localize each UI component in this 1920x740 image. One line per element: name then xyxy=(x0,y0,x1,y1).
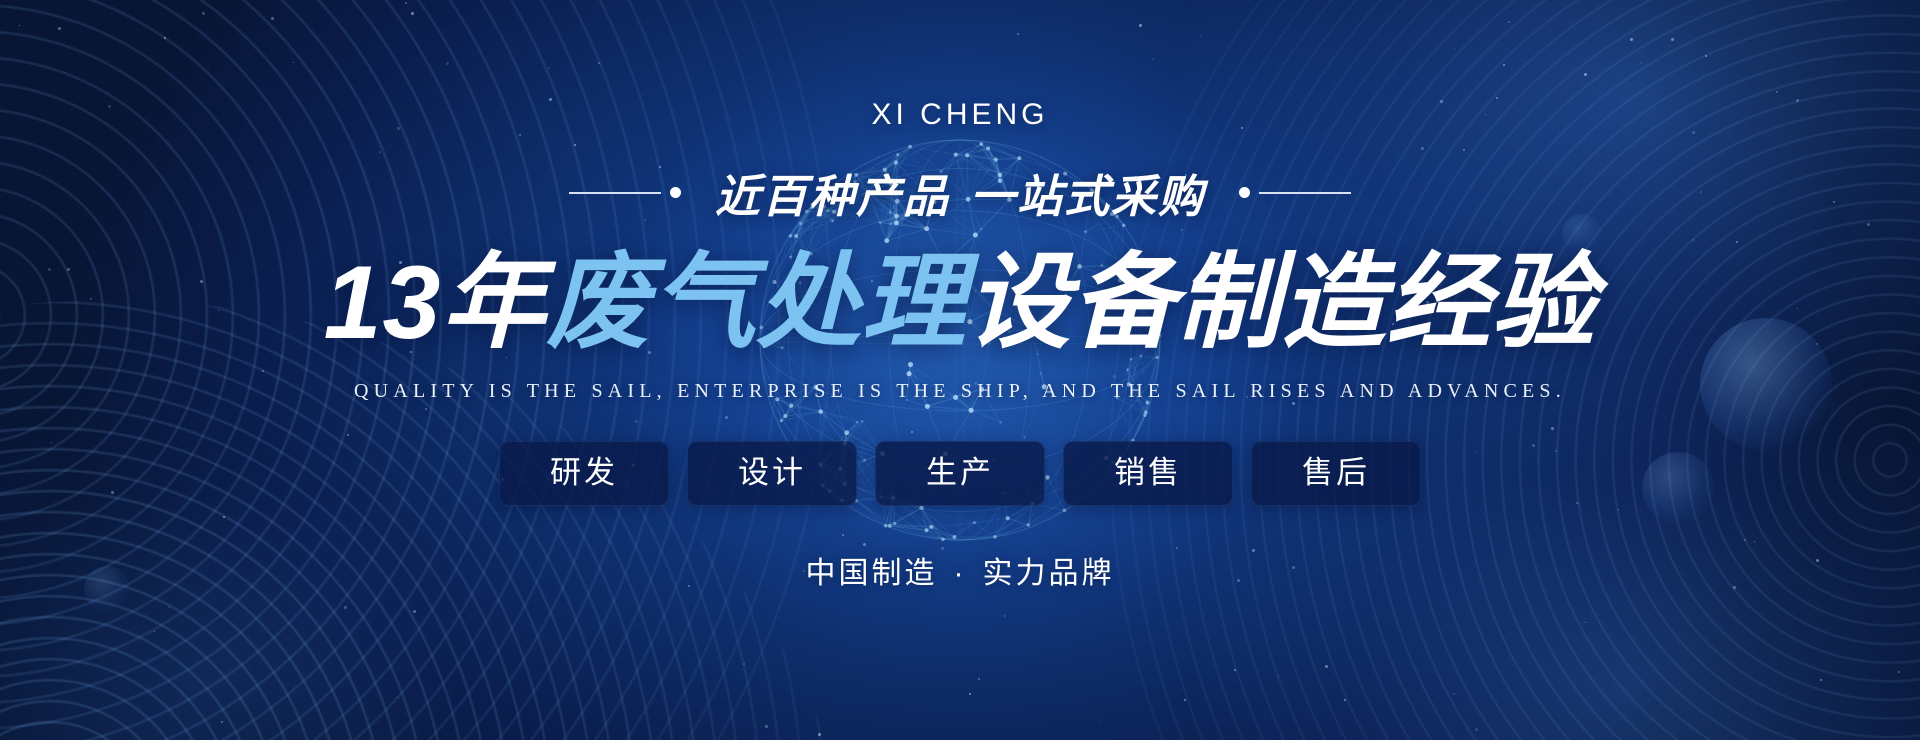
footnote-separator: · xyxy=(938,557,983,590)
service-stage-pill[interactable]: 设计 xyxy=(687,441,857,507)
service-stage-pill[interactable]: 研发 xyxy=(499,441,669,507)
subtitle-row: 近百种产品一站式采购 xyxy=(569,160,1351,225)
service-stage-pill[interactable]: 售后 xyxy=(1251,441,1421,507)
headline: 13年废气处理设备制造经验 xyxy=(324,243,1597,364)
decorative-rule-right-icon xyxy=(1239,187,1351,198)
subtitle-text: 近百种产品一站式采购 xyxy=(715,160,1205,225)
service-stage-list: 研发设计生产销售售后 xyxy=(499,441,1421,507)
rule-bar xyxy=(569,192,661,194)
footnote-left: 中国制造 xyxy=(806,557,938,590)
headline-highlight: 废气处理 xyxy=(546,245,966,361)
footnote-right: 实力品牌 xyxy=(983,557,1115,590)
headline-lead: 13年 xyxy=(324,245,547,361)
hero-banner: XI CHENG 近百种产品一站式采购 13年废气处理设备制造经验 QUALIT… xyxy=(0,0,1920,740)
footnote: 中国制造·实力品牌 xyxy=(806,548,1115,592)
banner-content: XI CHENG 近百种产品一站式采购 13年废气处理设备制造经验 QUALIT… xyxy=(0,0,1920,740)
service-stage-pill[interactable]: 生产 xyxy=(875,441,1045,507)
english-tagline: QUALITY IS THE SAIL, ENTERPRISE IS THE S… xyxy=(354,380,1566,403)
rule-dot xyxy=(670,187,681,198)
headline-tail: 设备制造经验 xyxy=(966,245,1596,361)
subtitle-left: 近百种产品 xyxy=(715,171,950,222)
decorative-rule-left-icon xyxy=(569,187,681,198)
service-stage-pill[interactable]: 销售 xyxy=(1063,441,1233,507)
subtitle-right: 一站式采购 xyxy=(970,171,1205,222)
rule-dot xyxy=(1239,187,1250,198)
brand-english-name: XI CHENG xyxy=(871,98,1048,132)
rule-bar xyxy=(1259,192,1351,194)
